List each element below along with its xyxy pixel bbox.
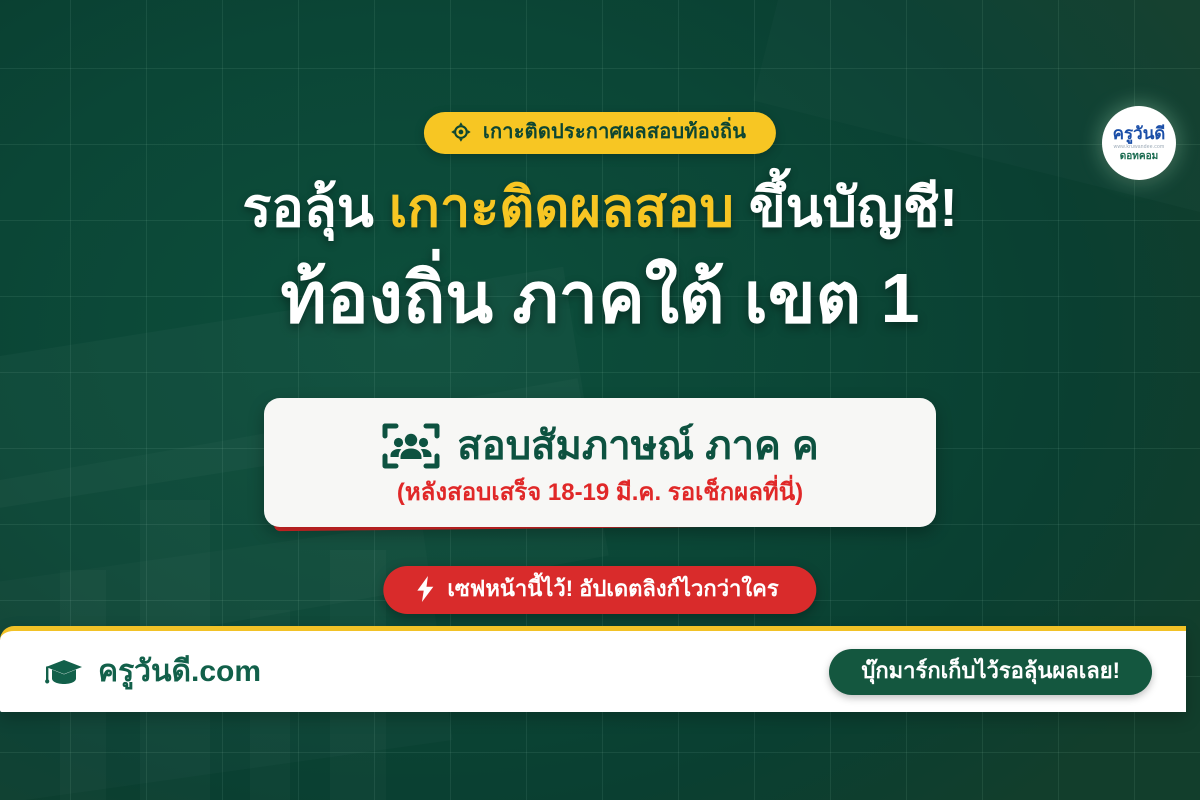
crosshair-target-icon: [450, 121, 472, 143]
headline-part-1: รอลุ้น: [242, 178, 388, 238]
brand-name: ครูวันดี.com: [98, 657, 261, 687]
site-logo-sub-text: ดอทคอม: [1120, 152, 1158, 162]
page-subtitle: ท้องถิ่น ภาคใต้ เขต 1: [0, 262, 1200, 336]
lightning-bolt-icon: [415, 576, 435, 602]
footer-bar: ครูวันดี.com บุ๊กมาร์กเก็บไว้รอลุ้นผลเลย…: [0, 626, 1186, 712]
bookmark-pill-button[interactable]: บุ๊กมาร์กเก็บไว้รอลุ้นผลเลย!: [829, 649, 1152, 695]
headline-part-2: ขึ้นบัญชี!: [734, 178, 958, 238]
graduation-cap-icon: [44, 656, 84, 688]
page-title: รอลุ้น เกาะติดผลสอบ ขึ้นบัญชี!: [0, 180, 1200, 236]
info-card-subtitle: (หลังสอบเสร็จ 18-19 มี.ค. รอเช็กผลที่นี่…: [288, 479, 912, 507]
headline-highlight: เกาะติดผลสอบ: [389, 178, 734, 238]
poster-canvas: เกาะติดประกาศผลสอบท้องถิ่น รอลุ้น เกาะติ…: [0, 0, 1200, 800]
info-card: สอบสัมภาษณ์ ภาค ค (หลังสอบเสร็จ 18-19 มี…: [264, 398, 936, 527]
announcement-badge[interactable]: เกาะติดประกาศผลสอบท้องถิ่น: [424, 112, 776, 154]
info-card-title: สอบสัมภาษณ์ ภาค ค: [457, 424, 818, 468]
brand-logo[interactable]: ครูวันดี.com: [44, 656, 261, 688]
announcement-badge-label: เกาะติดประกาศผลสอบท้องถิ่น: [483, 122, 746, 142]
save-page-cta-label: เซฟหน้านี้ไว้! อัปเดตลิงก์ไวกว่าใคร: [447, 578, 778, 600]
site-logo-main-text: ครูวันดี: [1113, 125, 1166, 142]
site-logo-url-text: www.kruwandee.com: [1114, 144, 1165, 151]
save-page-cta-button[interactable]: เซฟหน้านี้ไว้! อัปเดตลิงก์ไวกว่าใคร: [383, 566, 816, 614]
info-card-wrapper: สอบสัมภาษณ์ ภาค ค (หลังสอบเสร็จ 18-19 มี…: [264, 398, 936, 527]
group-scan-icon: [381, 420, 441, 472]
site-logo-badge[interactable]: ครูวันดี www.kruwandee.com ดอทคอม: [1102, 106, 1176, 180]
info-card-title-row: สอบสัมภาษณ์ ภาค ค: [288, 420, 912, 472]
